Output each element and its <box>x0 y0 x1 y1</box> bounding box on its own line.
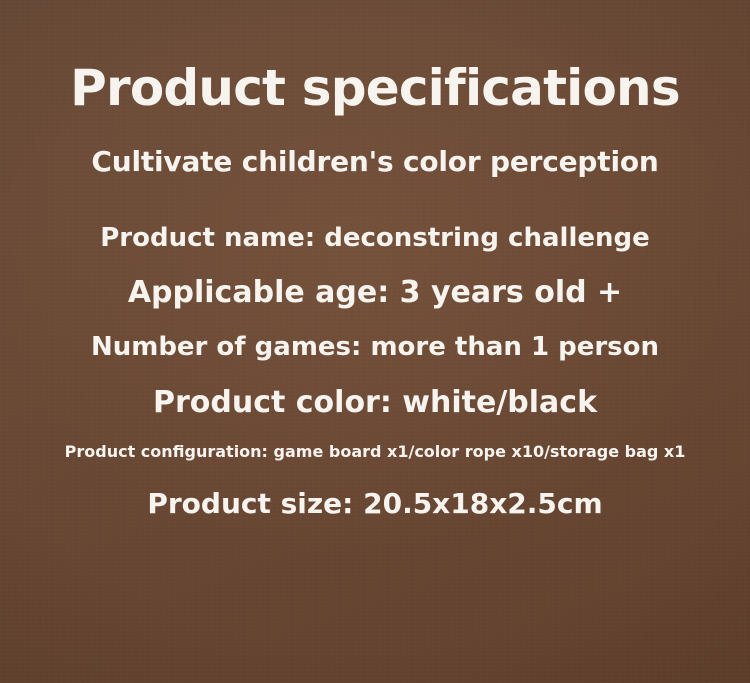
spec-row-number-of-games: Number of games: more than 1 person <box>0 333 750 362</box>
spec-row-product-configuration: Product configuration: game board x1/col… <box>0 443 750 461</box>
spec-row-product-color: Product color: white/black <box>0 386 750 419</box>
spec-row-product-name: Product name: deconstring challenge <box>0 224 750 253</box>
product-specifications-banner: Product specifications Cultivate childre… <box>0 0 750 683</box>
spec-row-product-size: Product size: 20.5x18x2.5cm <box>147 487 602 520</box>
spec-row-applicable-age: Applicable age: 3 years old + <box>0 276 750 309</box>
spec-list: Product name: deconstring challenge Appl… <box>0 224 750 461</box>
page-title: Product specifications <box>0 62 750 115</box>
page-subtitle: Cultivate children's color perception <box>0 147 750 176</box>
